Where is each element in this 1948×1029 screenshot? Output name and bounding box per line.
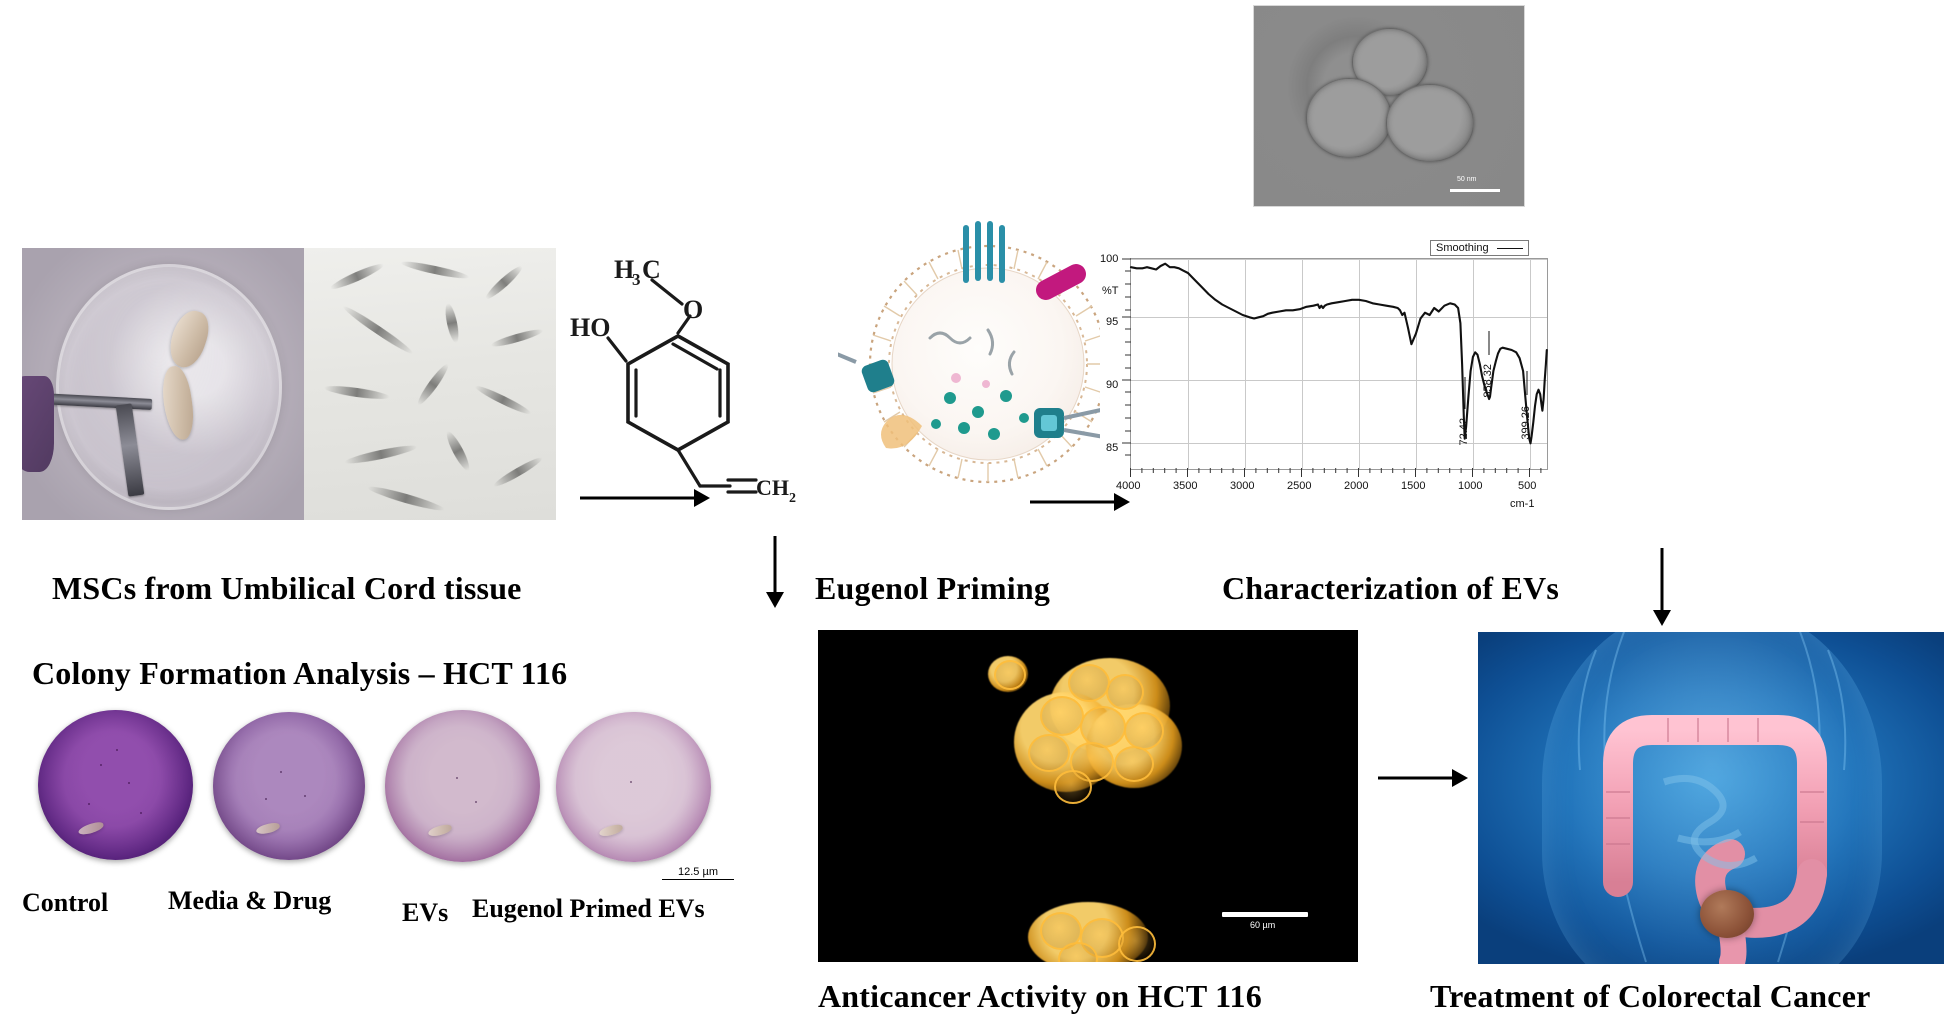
msc-cell	[483, 263, 525, 302]
tem-vesicle-right	[1386, 84, 1474, 162]
membrane-protein-magenta	[1032, 260, 1089, 303]
colony-plate-label-control: Control	[22, 888, 108, 918]
colony-scalebar: 12.5 µm	[662, 866, 734, 880]
fluor-cell	[1054, 770, 1092, 804]
colony-plate-media-drug	[213, 712, 365, 860]
ftir-xtick-3500: 3500	[1173, 480, 1197, 492]
graphical-abstract-canvas: 50 nm	[0, 0, 1948, 1029]
ftir-legend-line-swatch	[1497, 248, 1523, 249]
tem-vesicle-left	[1306, 78, 1392, 158]
ev-svg	[838, 212, 1138, 512]
ftir-xtick-3000: 3000	[1230, 480, 1254, 492]
fluor-cell	[1068, 664, 1110, 702]
plate-colony-field	[556, 712, 711, 862]
fluor-cell	[994, 660, 1026, 690]
tem-micrograph-inset: 50 nm	[1253, 5, 1525, 207]
eugenol-svg: H 3 C O HO CH 2	[570, 218, 800, 508]
ftir-ytick-85: 85	[1106, 442, 1118, 454]
gloved-hand	[22, 376, 54, 472]
msc-cell	[324, 383, 391, 401]
label-ether-o: O	[683, 295, 703, 324]
label-vinyl-sub: 2	[789, 491, 796, 506]
plate-colony-field	[38, 710, 193, 860]
fluor-cell	[1118, 926, 1156, 962]
membrane-receptor-teal	[1034, 408, 1110, 438]
msc-cell	[492, 455, 544, 490]
eugenol-chemical-structure: H 3 C O HO CH 2	[570, 218, 800, 508]
colony-plate-label-evs: EVs	[402, 898, 448, 928]
ftir-xtick-1500: 1500	[1401, 480, 1425, 492]
ftir-spectrum-trace	[1131, 264, 1547, 444]
caption-characterization: Characterization of EVs	[1222, 570, 1559, 607]
caption-anticancer-activity: Anticancer Activity on HCT 116	[818, 978, 1262, 1015]
colony-plate-label-media-drug: Media & Drug	[168, 886, 331, 916]
fluorescence-scalebar-label: 60 µm	[1250, 920, 1275, 930]
colony-plate-evs	[385, 710, 540, 862]
msc-cell	[415, 362, 452, 408]
msc-cell	[490, 327, 544, 350]
fluor-cell	[1028, 734, 1070, 772]
tem-scalebar-label: 50 nm	[1457, 176, 1476, 183]
ftir-ylabel: %T	[1102, 285, 1119, 297]
ftir-xtick-4000: 4000	[1116, 480, 1140, 492]
label-methyl-c: C	[642, 255, 661, 284]
colorectal-anatomy-illustration	[1478, 632, 1944, 964]
fluor-cell	[1114, 746, 1154, 782]
label-vinyl: CH	[756, 475, 789, 500]
ftir-y-minor-ticks	[1122, 258, 1132, 470]
msc-cell	[341, 303, 415, 357]
ftir-peak-label-1072: 72.42	[1458, 418, 1470, 446]
ftir-peak-leaders	[1465, 331, 1527, 409]
ftir-xlabel: cm-1	[1510, 498, 1534, 510]
ftir-peak-label-399: 399.26	[1520, 406, 1532, 440]
arrow-eugenol-down	[765, 536, 785, 608]
msc-cell	[344, 442, 418, 466]
extracellular-vesicle-diagram	[838, 212, 1138, 512]
plate-colony-field	[213, 712, 365, 860]
ftir-xtick-1000: 1000	[1458, 480, 1482, 492]
colony-plate-eugenol-primed-evs	[556, 712, 711, 862]
msc-cell	[366, 483, 445, 514]
fluorescence-micrograph-hct116: 60 µm	[818, 630, 1358, 962]
arrow-fluor-to-colon	[1378, 768, 1468, 788]
ftir-legend-label: Smoothing	[1436, 242, 1489, 254]
ftir-peak-label-858: 858.32	[1482, 364, 1494, 398]
caption-treatment: Treatment of Colorectal Cancer	[1430, 978, 1871, 1015]
colony-plate-control	[38, 710, 193, 860]
tem-scalebar	[1450, 189, 1500, 192]
msc-cell	[329, 261, 386, 293]
umbilical-cord-dish-photo	[22, 248, 304, 520]
fluorescence-scalebar	[1222, 912, 1308, 917]
fluor-cell	[1040, 696, 1084, 736]
msc-cell	[473, 383, 532, 417]
arrow-ftir-down	[1652, 548, 1672, 626]
caption-eugenol-priming: Eugenol Priming	[815, 570, 1050, 607]
label-hydroxyl: HO	[570, 313, 610, 342]
ftir-legend: Smoothing	[1430, 240, 1529, 256]
ftir-xtick-2500: 2500	[1287, 480, 1311, 492]
colony-plate-label-eugenol-primed-evs: Eugenol Primed EVs	[472, 894, 705, 924]
ftir-xtick-2000: 2000	[1344, 480, 1368, 492]
ftir-spectrum-chart: 100 %T 95 90 85	[1100, 240, 1560, 540]
arrow-ev-to-ftir	[1030, 492, 1130, 512]
fluor-cell	[1106, 674, 1144, 710]
fluor-cell	[1124, 712, 1164, 750]
ftir-ytick-100: 100	[1100, 253, 1118, 265]
plate-colony-field	[385, 710, 540, 862]
msc-cell	[443, 302, 461, 343]
ftir-ytick-95: 95	[1106, 316, 1118, 328]
ftir-ytick-90: 90	[1106, 379, 1118, 391]
msc-phase-contrast-photo	[304, 248, 556, 520]
caption-msc-source: MSCs from Umbilical Cord tissue	[52, 570, 522, 607]
ftir-xtick-500: 500	[1518, 480, 1536, 492]
label-methyl-sub: 3	[632, 270, 641, 289]
msc-cell	[443, 429, 472, 473]
tumor-lesion	[1700, 890, 1754, 938]
ftir-x-ticks	[1130, 468, 1548, 478]
msc-cell	[400, 259, 470, 281]
caption-colony-formation: Colony Formation Analysis – HCT 116	[32, 655, 567, 692]
arrow-msc-to-eugenol	[580, 488, 710, 508]
